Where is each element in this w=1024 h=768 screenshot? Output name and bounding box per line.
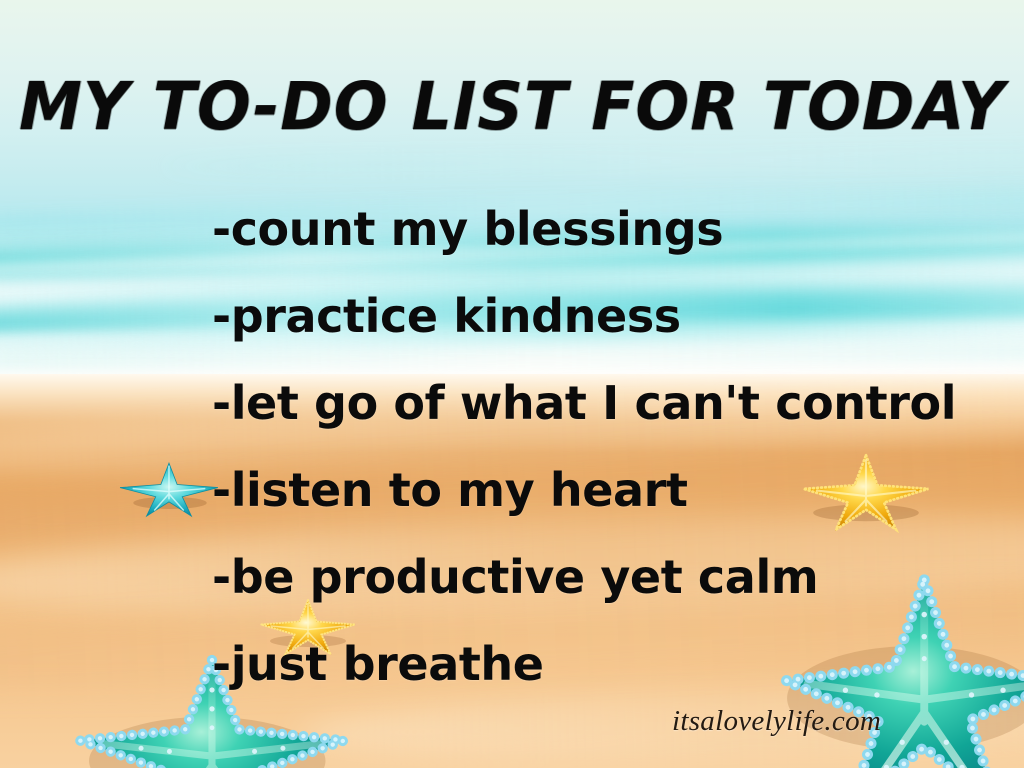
list-item: -listen to my heart — [212, 447, 972, 534]
page-title: MY TO-DO LIST FOR TODAY — [0, 74, 1024, 140]
site-watermark: itsalovelylife.com — [672, 705, 881, 738]
todo-list: -count my blessings -practice kindness -… — [212, 186, 972, 708]
list-item: -count my blessings — [212, 186, 972, 273]
list-item: -be productive yet calm — [212, 534, 972, 621]
beach-todo-poster: MY TO-DO LIST FOR TODAY -count my blessi… — [0, 0, 1024, 768]
list-item: -let go of what I can't control — [212, 360, 972, 447]
list-item: -just breathe — [212, 621, 972, 708]
starfish-teal-small-icon — [118, 458, 220, 518]
list-item: -practice kindness — [212, 273, 972, 360]
